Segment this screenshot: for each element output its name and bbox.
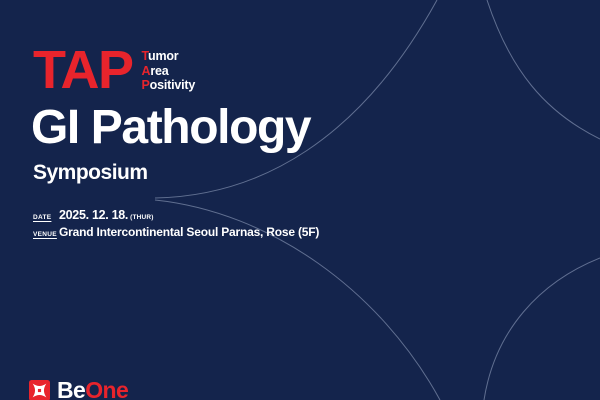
tap-brand-lockup: TAP Tumor Area Positivity xyxy=(33,47,195,93)
page-title: GI Pathology xyxy=(31,101,310,155)
event-date-label: DATE xyxy=(33,214,59,221)
event-date-row: DATE 2025. 12. 18. (THUR) xyxy=(33,208,319,222)
tap-acronym: TAP xyxy=(33,47,133,93)
event-poster: TAP Tumor Area Positivity GI Pathology S… xyxy=(0,0,600,400)
event-date-weekday: (THUR) xyxy=(130,214,154,221)
tap-expansion-rest-tumor: umor xyxy=(148,49,178,63)
tap-expansion-line-tumor: Tumor xyxy=(142,50,196,64)
logo-text-one: One xyxy=(85,377,128,400)
tap-expansion-line-area: Area xyxy=(142,65,196,79)
tap-expansion-rest-area: rea xyxy=(150,64,168,78)
event-venue-label: VENUE xyxy=(33,231,59,238)
event-venue-row: VENUE Grand Intercontinental Seoul Parna… xyxy=(33,225,319,239)
logo-text-be: Be xyxy=(57,377,85,400)
beone-logo-wordmark: BeOne xyxy=(57,379,128,400)
sponsor-logo: BeOne xyxy=(29,379,128,400)
page-subtitle: Symposium xyxy=(33,161,148,185)
tap-expansion-initial-p: P xyxy=(142,78,150,92)
tap-expansion: Tumor Area Positivity xyxy=(142,50,196,93)
event-info-block: DATE 2025. 12. 18. (THUR) VENUE Grand In… xyxy=(33,208,319,242)
tap-expansion-line-positivity: Positivity xyxy=(142,79,196,93)
event-date-value: 2025. 12. 18. xyxy=(59,208,128,222)
tap-expansion-rest-positivity: ositivity xyxy=(150,78,195,92)
event-venue-value: Grand Intercontinental Seoul Parnas, Ros… xyxy=(59,225,319,239)
tap-expansion-initial-a: A xyxy=(142,64,151,78)
beone-logo-mark-icon xyxy=(29,380,50,400)
